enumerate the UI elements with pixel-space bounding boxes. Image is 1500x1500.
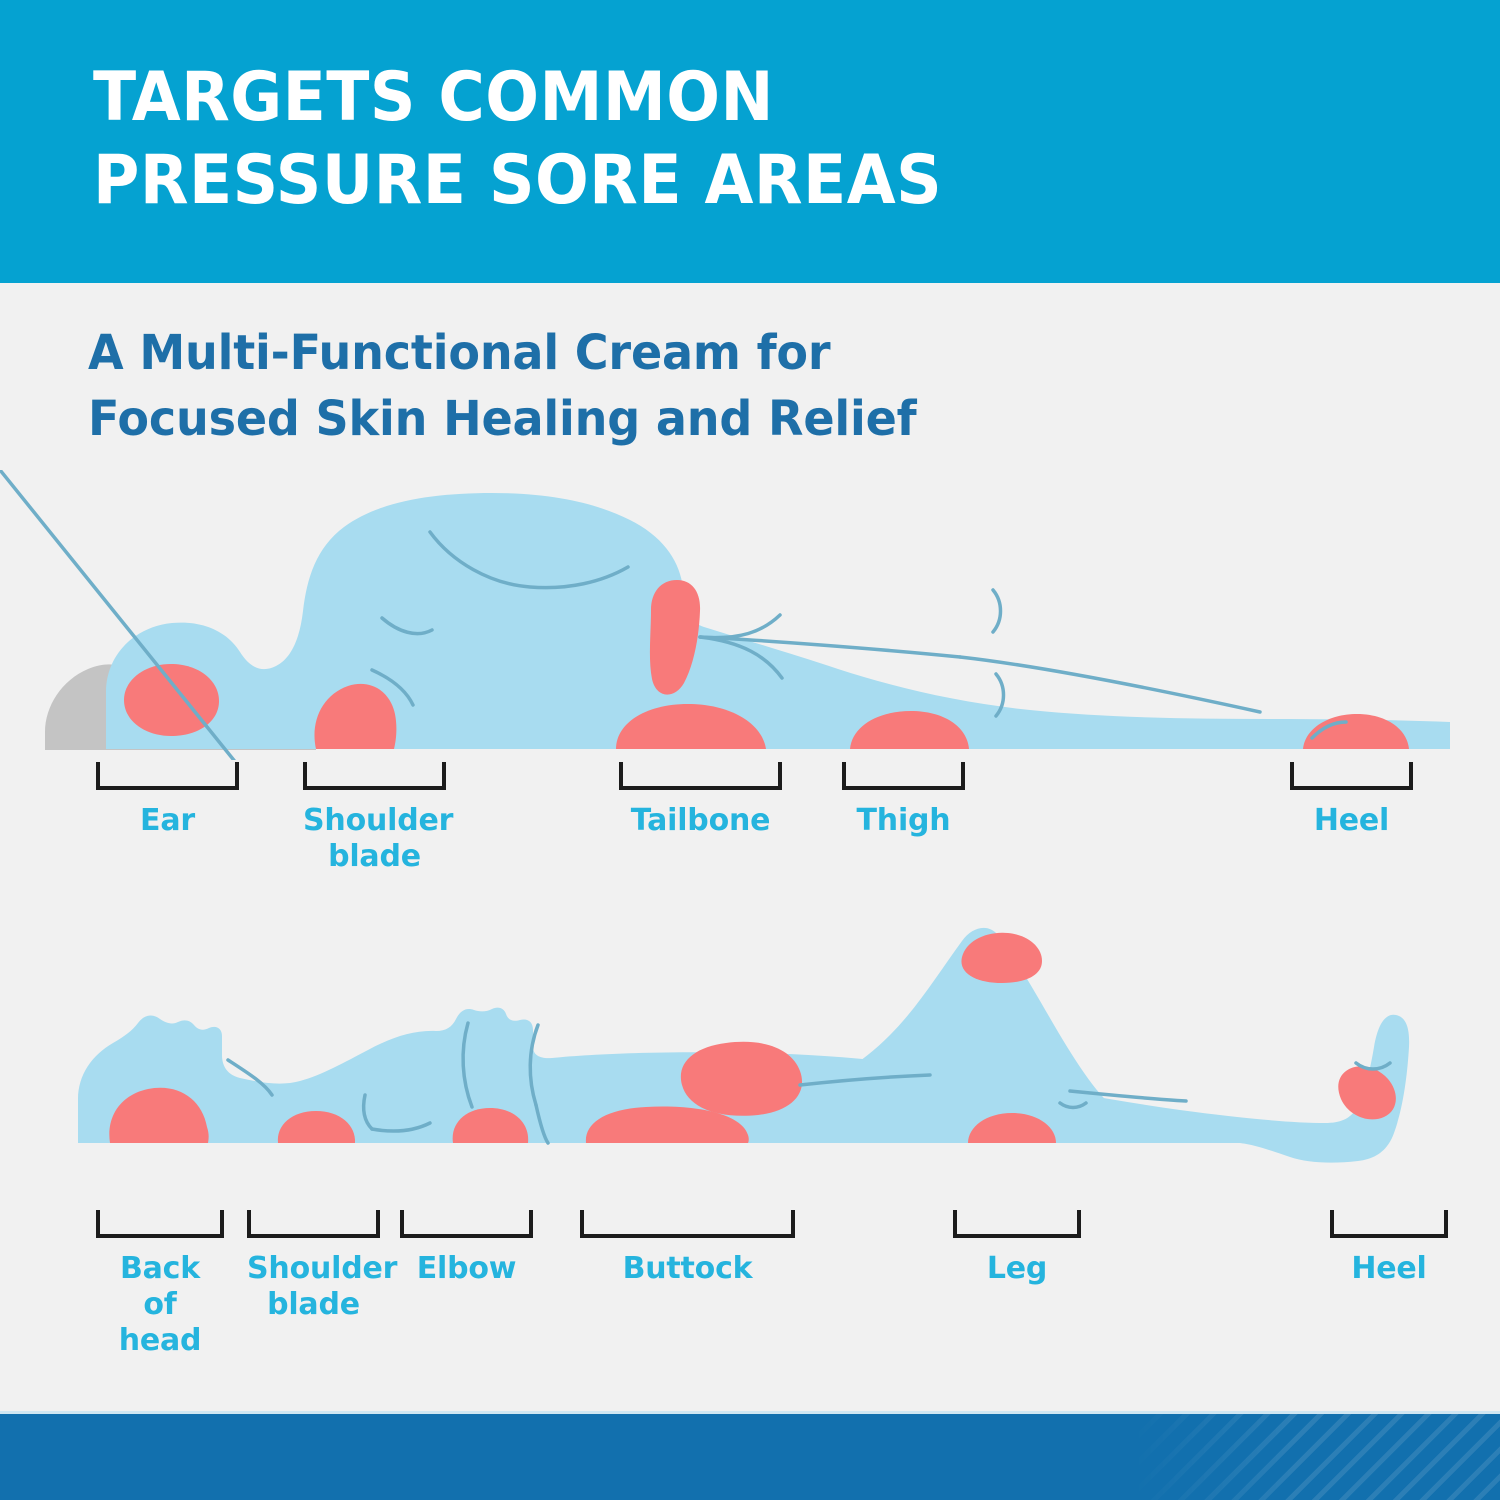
callout-label-back-of-head: Back of head [96, 1251, 224, 1359]
callout-label-ear: Ear [96, 803, 239, 839]
callout-label-leg: Leg [953, 1251, 1081, 1287]
callout-buttock: Buttock [580, 1210, 795, 1287]
bracket-shoulder-blade-top [303, 762, 446, 790]
callout-heel-top: Heel [1290, 762, 1413, 839]
bracket-heel-top [1290, 762, 1413, 790]
bracket-heel-bottom [1330, 1210, 1448, 1238]
callout-shoulder-blade-bottom: Shoulder blade [247, 1210, 380, 1323]
callout-label-elbow: Elbow [400, 1251, 533, 1287]
bracket-leg [953, 1210, 1081, 1238]
footer-diagonal-stripes [1130, 1414, 1500, 1500]
bracket-buttock [580, 1210, 795, 1238]
callout-label-shoulder-blade-top: Shoulder blade [303, 803, 446, 875]
callout-tailbone: Tailbone [619, 762, 782, 839]
callout-back-of-head: Back of head [96, 1210, 224, 1359]
supine-figure-illustration [0, 895, 1500, 1205]
callout-label-tailbone: Tailbone [619, 803, 782, 839]
pressure-spot-buttock-upper [681, 1042, 802, 1116]
header-banner: TARGETS COMMON PRESSURE SORE AREAS [0, 0, 1500, 283]
callout-leg: Leg [953, 1210, 1081, 1287]
callout-heel-bottom: Heel [1330, 1210, 1448, 1287]
callout-elbow: Elbow [400, 1210, 533, 1287]
side-lying-figure-illustration [0, 470, 1500, 760]
callout-label-heel-bottom: Heel [1330, 1251, 1448, 1287]
bracket-ear [96, 762, 239, 790]
callout-label-heel-top: Heel [1290, 803, 1413, 839]
callout-label-buttock: Buttock [580, 1251, 795, 1287]
infographic-page: TARGETS COMMON PRESSURE SORE AREAS A Mul… [0, 0, 1500, 1500]
bracket-shoulder-blade-bottom [247, 1210, 380, 1238]
callout-label-thigh: Thigh [842, 803, 965, 839]
bracket-tailbone [619, 762, 782, 790]
callout-label-shoulder-blade-bottom: Shoulder blade [247, 1251, 380, 1323]
bracket-back-of-head [96, 1210, 224, 1238]
bracket-thigh [842, 762, 965, 790]
callout-shoulder-blade-top: Shoulder blade [303, 762, 446, 875]
bracket-elbow [400, 1210, 533, 1238]
footer-bar [0, 1414, 1500, 1500]
callout-ear: Ear [96, 762, 239, 839]
callout-thigh: Thigh [842, 762, 965, 839]
page-title: TARGETS COMMON PRESSURE SORE AREAS [93, 56, 1209, 222]
subtitle: A Multi-Functional Cream for Focused Ski… [88, 320, 1144, 452]
